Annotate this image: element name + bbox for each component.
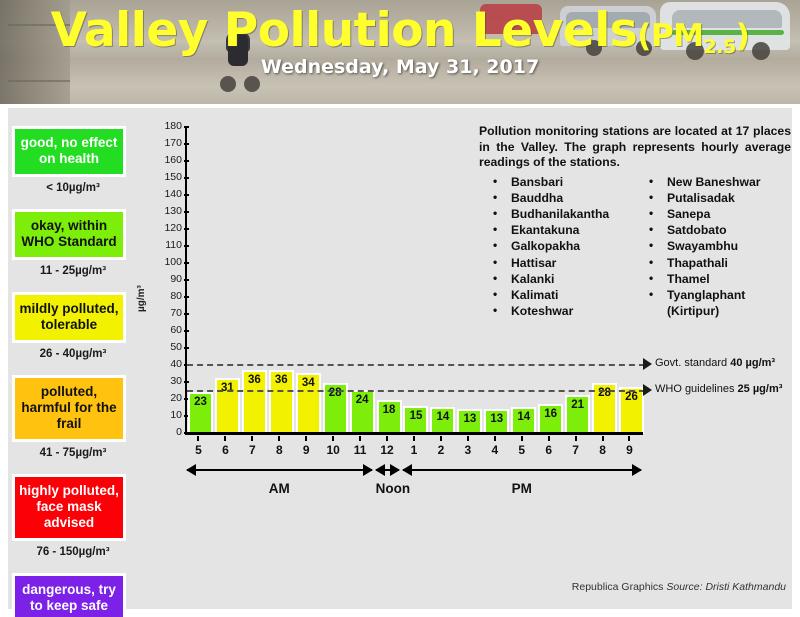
bar-hour-6[interactable]: 16 bbox=[538, 404, 563, 434]
y-tick-150: 150 bbox=[146, 171, 182, 183]
y-tick-60: 60 bbox=[146, 324, 182, 336]
station-item: Hattisar bbox=[479, 255, 635, 271]
reference-line-25 bbox=[187, 390, 645, 392]
y-tick-40: 40 bbox=[146, 358, 182, 370]
x-tick-5: 5 bbox=[508, 436, 535, 457]
bar-slot: 36 bbox=[241, 128, 268, 434]
x-axis-tick-labels: 56789101112123456789 bbox=[185, 436, 643, 457]
y-tick-50: 50 bbox=[146, 341, 182, 353]
station-item: Bauddha bbox=[479, 190, 635, 206]
legend-item-polluted: polluted, harmful for the frail 41 - 75µ… bbox=[12, 375, 134, 467]
station-item: Swayambhu bbox=[635, 238, 791, 254]
bar-slot: 34 bbox=[295, 128, 322, 434]
x-tick-9: 9 bbox=[616, 436, 643, 457]
y-tick-10: 10 bbox=[146, 409, 182, 421]
y-tick-100: 100 bbox=[146, 256, 182, 268]
station-item: Sanepa bbox=[635, 206, 791, 222]
bar-slot: 18 bbox=[376, 128, 403, 434]
period-label-noon: Noon bbox=[376, 481, 399, 496]
y-axis-ticks: 1801701601501401301201101009080706050403… bbox=[146, 126, 182, 434]
footer-credit: Republica Graphics Source: Dristi Kathma… bbox=[572, 581, 786, 593]
legend-item-good: good, no effect on health < 10µg/m³ bbox=[12, 126, 134, 202]
reference-label-25: WHO guidelines 25 µg/m³ bbox=[655, 383, 782, 395]
station-item: Kalimati bbox=[479, 287, 635, 303]
bar-hour-9[interactable]: 34 bbox=[296, 373, 321, 434]
reference-label-amount: 25 µg/m³ bbox=[738, 383, 783, 395]
stations-info-panel: Pollution monitoring stations are locate… bbox=[479, 124, 791, 319]
y-tick-0: 0 bbox=[146, 426, 182, 438]
period-arrow-pm bbox=[403, 469, 641, 471]
bar-value-label: 36 bbox=[248, 374, 261, 386]
legend-swatch-good: good, no effect on health bbox=[12, 126, 126, 177]
bar-value-label: 18 bbox=[383, 404, 396, 416]
bar-slot: 24 bbox=[349, 128, 376, 434]
period-arrow-am bbox=[187, 469, 372, 471]
bar-value-label: 16 bbox=[544, 408, 557, 420]
credit-source: Source: Dristi Kathmandu bbox=[666, 581, 786, 593]
bar-hour-2[interactable]: 14 bbox=[430, 407, 455, 434]
y-tick-70: 70 bbox=[146, 307, 182, 319]
reference-label-text: Govt. standard bbox=[655, 357, 730, 369]
x-tick-1: 1 bbox=[401, 436, 428, 457]
legend-range-polluted: 41 - 75µg/m³ bbox=[12, 442, 134, 467]
x-tick-11: 11 bbox=[347, 436, 374, 457]
y-tick-130: 130 bbox=[146, 205, 182, 217]
bar-value-label: 34 bbox=[302, 377, 315, 389]
station-item: New Baneshwar bbox=[635, 174, 791, 190]
x-tick-4: 4 bbox=[481, 436, 508, 457]
pollution-scale-legend: good, no effect on health < 10µg/m³ okay… bbox=[12, 126, 134, 617]
bar-hour-5[interactable]: 14 bbox=[511, 407, 536, 434]
station-item: Putalisadak bbox=[635, 190, 791, 206]
title-main: Valley Pollution Levels bbox=[51, 3, 638, 58]
bar-value-label: 15 bbox=[410, 410, 423, 422]
legend-swatch-highly-polluted: highly polluted, face mask advised bbox=[12, 474, 126, 541]
reference-label-text: WHO guidelines bbox=[655, 383, 738, 395]
stations-column-right: New BaneshwarPutalisadakSanepaSatdobatoS… bbox=[635, 174, 791, 320]
reference-label-40: Govt. standard 40 µg/m³ bbox=[655, 357, 775, 369]
bar-hour-4[interactable]: 13 bbox=[484, 409, 509, 434]
x-tick-7: 7 bbox=[239, 436, 266, 457]
title-pm-close: ) bbox=[736, 18, 750, 54]
legend-swatch-dangerous: dangerous, try to keep safe bbox=[12, 573, 126, 617]
y-tick-20: 20 bbox=[146, 392, 182, 404]
station-item: Koteshwar bbox=[479, 303, 635, 319]
station-item: Tyanglaphant bbox=[635, 287, 791, 303]
bar-value-label: 26 bbox=[625, 391, 638, 403]
station-item: (Kirtipur) bbox=[635, 303, 791, 319]
bar-value-label: 14 bbox=[517, 411, 530, 423]
bar-hour-9[interactable]: 26 bbox=[619, 387, 644, 434]
legend-swatch-mildly-polluted: mildly polluted, tolerable bbox=[12, 292, 126, 343]
bar-value-label: 13 bbox=[463, 413, 476, 425]
bar-hour-3[interactable]: 13 bbox=[457, 409, 482, 434]
y-tick-120: 120 bbox=[146, 222, 182, 234]
bar-hour-7[interactable]: 21 bbox=[565, 395, 590, 434]
legend-swatch-polluted: polluted, harmful for the frail bbox=[12, 375, 126, 442]
bar-slot: 15 bbox=[403, 128, 430, 434]
x-tick-7: 7 bbox=[562, 436, 589, 457]
reference-arrow-40 bbox=[643, 358, 652, 370]
station-item: Kalanki bbox=[479, 271, 635, 287]
legend-item-highly-polluted: highly polluted, face mask advised 76 - … bbox=[12, 474, 134, 566]
reference-line-40 bbox=[187, 364, 645, 366]
legend-swatch-okay: okay, within WHO Standard bbox=[12, 209, 126, 260]
x-axis-line bbox=[185, 432, 643, 435]
stations-description: Pollution monitoring stations are locate… bbox=[479, 124, 791, 171]
bar-hour-1[interactable]: 15 bbox=[403, 406, 428, 435]
bar-slot: 28 bbox=[322, 128, 349, 434]
y-tick-170: 170 bbox=[146, 137, 182, 149]
legend-range-highly-polluted: 76 - 150µg/m³ bbox=[12, 541, 134, 566]
station-item: Ekantakuna bbox=[479, 222, 635, 238]
x-tick-8: 8 bbox=[589, 436, 616, 457]
station-item: Budhanilakantha bbox=[479, 206, 635, 222]
reference-label-amount: 40 µg/m³ bbox=[730, 357, 775, 369]
station-item: Galkopakha bbox=[479, 238, 635, 254]
y-tick-90: 90 bbox=[146, 273, 182, 285]
station-item: Satdobato bbox=[635, 222, 791, 238]
bar-slot: 31 bbox=[214, 128, 241, 434]
y-tick-110: 110 bbox=[146, 239, 182, 251]
station-item: Thapathali bbox=[635, 255, 791, 271]
bar-hour-12[interactable]: 18 bbox=[377, 400, 402, 434]
bar-value-label: 31 bbox=[221, 382, 234, 394]
stations-list: BansbariBauddhaBudhanilakanthaEkantakuna… bbox=[479, 174, 791, 320]
stations-column-left: BansbariBauddhaBudhanilakanthaEkantakuna… bbox=[479, 174, 635, 320]
legend-range-mildly-polluted: 26 - 40µg/m³ bbox=[12, 343, 134, 368]
x-tick-9: 9 bbox=[293, 436, 320, 457]
x-tick-3: 3 bbox=[454, 436, 481, 457]
x-tick-2: 2 bbox=[427, 436, 454, 457]
title-pm-subscript: 2.5 bbox=[704, 36, 736, 58]
bar-hour-7[interactable]: 36 bbox=[242, 370, 267, 434]
station-item: Thamel bbox=[635, 271, 791, 287]
banner-wheel bbox=[220, 76, 236, 92]
period-label-am: AM bbox=[187, 481, 372, 496]
banner-wheel bbox=[244, 76, 260, 92]
y-tick-30: 30 bbox=[146, 375, 182, 387]
period-arrow-noon bbox=[376, 469, 399, 471]
legend-range-okay: 11 - 25µg/m³ bbox=[12, 260, 134, 285]
y-tick-140: 140 bbox=[146, 188, 182, 200]
reference-arrow-25 bbox=[643, 384, 652, 396]
credit-graphics: Republica Graphics bbox=[572, 581, 664, 593]
bar-hour-6[interactable]: 31 bbox=[215, 378, 240, 434]
y-tick-160: 160 bbox=[146, 154, 182, 166]
legend-item-okay: okay, within WHO Standard 11 - 25µg/m³ bbox=[12, 209, 134, 285]
legend-item-mildly-polluted: mildly polluted, tolerable 26 - 40µg/m³ bbox=[12, 292, 134, 368]
bar-slot: 23 bbox=[187, 128, 214, 434]
x-tick-6: 6 bbox=[535, 436, 562, 457]
y-tick-180: 180 bbox=[146, 120, 182, 132]
page-subtitle-date: Wednesday, May 31, 2017 bbox=[0, 56, 800, 78]
station-item: Bansbari bbox=[479, 174, 635, 190]
bar-hour-11[interactable]: 24 bbox=[350, 390, 375, 434]
y-tick-80: 80 bbox=[146, 290, 182, 302]
bar-value-label: 13 bbox=[490, 413, 503, 425]
bar-slot: 36 bbox=[268, 128, 295, 434]
period-axis: AMNoonPM bbox=[185, 461, 643, 507]
x-tick-5: 5 bbox=[185, 436, 212, 457]
bar-value-label: 24 bbox=[356, 394, 369, 406]
bar-slot: 14 bbox=[429, 128, 456, 434]
bar-value-label: 36 bbox=[275, 374, 288, 386]
bar-hour-5[interactable]: 23 bbox=[188, 392, 213, 434]
bar-hour-8[interactable]: 36 bbox=[269, 370, 294, 434]
x-tick-6: 6 bbox=[212, 436, 239, 457]
bar-value-label: 23 bbox=[194, 396, 207, 408]
bar-value-label: 21 bbox=[571, 399, 584, 411]
legend-item-dangerous: dangerous, try to keep safe > 150µg/m³ bbox=[12, 573, 134, 617]
title-pm-open: (PM bbox=[637, 18, 703, 54]
x-tick-12: 12 bbox=[374, 436, 401, 457]
header-banner-photo: Valley Pollution Levels(PM2.5) Wednesday… bbox=[0, 0, 800, 104]
x-tick-10: 10 bbox=[320, 436, 347, 457]
period-label-pm: PM bbox=[403, 481, 641, 496]
infographic-page: Valley Pollution Levels(PM2.5) Wednesday… bbox=[0, 0, 800, 617]
legend-range-good: < 10µg/m³ bbox=[12, 177, 134, 202]
bar-value-label: 14 bbox=[437, 411, 450, 423]
x-tick-8: 8 bbox=[266, 436, 293, 457]
